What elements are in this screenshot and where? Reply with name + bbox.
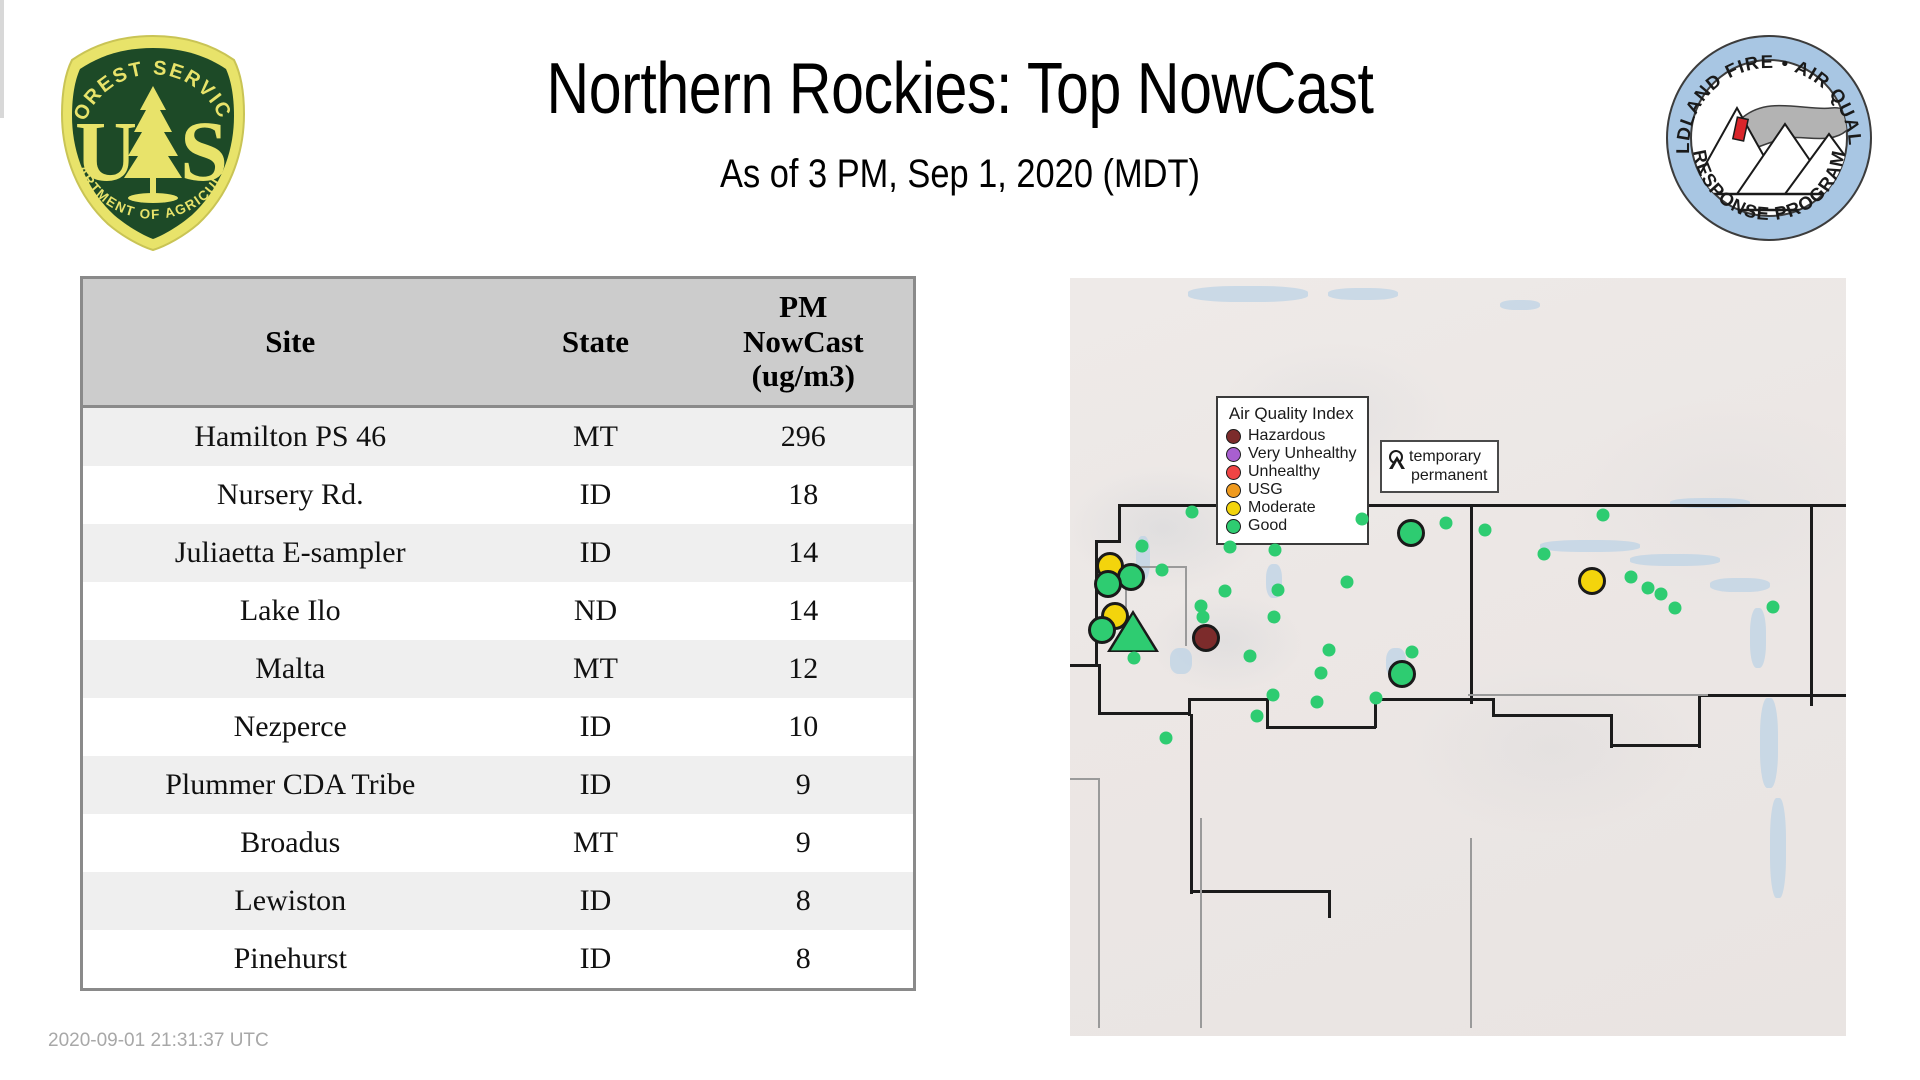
pm-header-line-1: PM <box>698 290 910 325</box>
svg-text:U: U <box>75 103 137 199</box>
wfaqrp-response-program-logo: WILDLAND FIRE • AIR QUALITY RESPONSE PRO… <box>1663 32 1875 244</box>
table-row: Nursery Rd.ID18 <box>82 466 915 524</box>
site-cell: Malta <box>82 640 498 698</box>
map-marker-good[interactable] <box>1269 544 1282 557</box>
table-header-row: Site State PM NowCast (ug/m3) <box>82 278 915 407</box>
map-marker-good[interactable] <box>1251 710 1264 723</box>
site-cell: Hamilton PS 46 <box>82 407 498 467</box>
table-row: LewistonID8 <box>82 872 915 930</box>
state-cell: ID <box>498 930 694 990</box>
legend-row-permanent: permanent <box>1389 466 1488 485</box>
map-marker-good[interactable] <box>1479 524 1492 537</box>
pm-value-cell: 9 <box>694 814 915 872</box>
state-cell: MT <box>498 814 694 872</box>
usfs-forest-service-logo: FOREST SERVICE DEPARTMENT OF AGRICULTURE… <box>48 28 258 253</box>
pm-header-line-2: NowCast <box>698 325 910 360</box>
legend-label-permanent: permanent <box>1411 467 1488 485</box>
map-marker-good[interactable] <box>1128 652 1141 665</box>
state-cell: ND <box>498 582 694 640</box>
air-quality-map[interactable]: Air Quality Index HazardousVery Unhealth… <box>1070 278 1846 1036</box>
nowcast-table-container: Site State PM NowCast (ug/m3) Hamilton P… <box>80 276 913 991</box>
nowcast-table: Site State PM NowCast (ug/m3) Hamilton P… <box>80 276 916 991</box>
site-cell: Nursery Rd. <box>82 466 498 524</box>
aqi-legend-items: HazardousVery UnhealthyUnhealthyUSGModer… <box>1226 427 1357 535</box>
aqi-legend-label: Unhealthy <box>1248 464 1320 480</box>
map-marker-good[interactable] <box>1341 576 1354 589</box>
map-marker-good[interactable] <box>1356 513 1369 526</box>
table-row: Lake IloND14 <box>82 582 915 640</box>
page-title: Northern Rockies: Top NowCast <box>419 52 1501 128</box>
pm-value-cell: 9 <box>694 756 915 814</box>
map-marker-layer <box>1070 278 1846 1036</box>
site-cell: Plummer CDA Tribe <box>82 756 498 814</box>
map-marker-hazardous[interactable] <box>1192 624 1220 652</box>
pm-value-cell: 8 <box>694 930 915 990</box>
column-header-site: Site <box>82 278 498 407</box>
map-marker-good[interactable] <box>1268 611 1281 624</box>
pm-value-cell: 12 <box>694 640 915 698</box>
svg-text:S: S <box>180 103 228 199</box>
pm-value-cell: 8 <box>694 872 915 930</box>
column-header-state: State <box>498 278 694 407</box>
map-marker-good[interactable] <box>1625 571 1638 584</box>
pm-value-cell: 18 <box>694 466 915 524</box>
aqi-swatch-icon <box>1226 447 1241 462</box>
map-marker-good[interactable] <box>1219 585 1232 598</box>
map-marker-good[interactable] <box>1597 509 1610 522</box>
table-row: BroadusMT9 <box>82 814 915 872</box>
table-body: Hamilton PS 46MT296Nursery Rd.ID18Juliae… <box>82 407 915 990</box>
column-header-pm-nowcast: PM NowCast (ug/m3) <box>694 278 915 407</box>
map-marker-good[interactable] <box>1315 667 1328 680</box>
pm-value-cell: 296 <box>694 407 915 467</box>
legend-label-temporary: temporary <box>1409 448 1481 466</box>
aqi-legend-row: Good <box>1226 517 1357 535</box>
site-cell: Lewiston <box>82 872 498 930</box>
map-marker-good[interactable] <box>1311 696 1324 709</box>
map-marker-good[interactable] <box>1406 646 1419 659</box>
map-marker-moderate[interactable] <box>1578 567 1606 595</box>
aqi-legend-label: Hazardous <box>1248 428 1325 444</box>
state-cell: ID <box>498 524 694 582</box>
aqi-legend-row: Moderate <box>1226 499 1357 517</box>
map-marker-good[interactable] <box>1397 519 1425 547</box>
table-row: Plummer CDA TribeID9 <box>82 756 915 814</box>
site-cell: Nezperce <box>82 698 498 756</box>
aqi-legend-row: Unhealthy <box>1226 463 1357 481</box>
map-marker-good[interactable] <box>1440 517 1453 530</box>
pm-value-cell: 10 <box>694 698 915 756</box>
aqi-swatch-icon <box>1226 465 1241 480</box>
pm-header-line-3: (ug/m3) <box>698 359 910 394</box>
pm-value-cell: 14 <box>694 582 915 640</box>
aqi-swatch-icon <box>1226 519 1241 534</box>
map-marker-good[interactable] <box>1156 564 1169 577</box>
map-marker-good[interactable] <box>1094 570 1122 598</box>
map-marker-good[interactable] <box>1370 692 1383 705</box>
map-marker-good[interactable] <box>1244 650 1257 663</box>
table-row: NezperceID10 <box>82 698 915 756</box>
site-cell: Broadus <box>82 814 498 872</box>
aqi-swatch-icon <box>1226 483 1241 498</box>
aqi-legend: Air Quality Index HazardousVery Unhealth… <box>1216 396 1369 545</box>
site-cell: Pinehurst <box>82 930 498 990</box>
table-row: MaltaMT12 <box>82 640 915 698</box>
state-cell: MT <box>498 640 694 698</box>
map-marker-good[interactable] <box>1767 601 1780 614</box>
map-marker-good[interactable] <box>1088 616 1116 644</box>
map-marker-good[interactable] <box>1669 602 1682 615</box>
aqi-legend-row: USG <box>1226 481 1357 499</box>
state-cell: ID <box>498 872 694 930</box>
map-marker-good[interactable] <box>1323 644 1336 657</box>
page-subtitle-timestamp: As of 3 PM, Sep 1, 2020 (MDT) <box>392 152 1527 197</box>
aqi-legend-row: Hazardous <box>1226 427 1357 445</box>
map-marker-good[interactable] <box>1655 588 1668 601</box>
site-cell: Lake Ilo <box>82 582 498 640</box>
table-row: Hamilton PS 46MT296 <box>82 407 915 467</box>
aqi-legend-label: Very Unhealthy <box>1248 446 1357 462</box>
map-marker-good[interactable] <box>1186 506 1199 519</box>
site-cell: Juliaetta E-sampler <box>82 524 498 582</box>
state-cell: ID <box>498 466 694 524</box>
footer-generation-timestamp: 2020-09-01 21:31:37 UTC <box>48 1030 269 1052</box>
map-marker-good[interactable] <box>1224 541 1237 554</box>
aqi-legend-row: Very Unhealthy <box>1226 445 1357 463</box>
map-marker-good[interactable] <box>1538 548 1551 561</box>
table-row: PinehurstID8 <box>82 930 915 990</box>
table-row: Juliaetta E-samplerID14 <box>82 524 915 582</box>
aqi-swatch-icon <box>1226 429 1241 444</box>
map-marker-good[interactable] <box>1160 732 1173 745</box>
state-cell: ID <box>498 756 694 814</box>
map-marker-good[interactable] <box>1388 660 1416 688</box>
state-cell: ID <box>498 698 694 756</box>
monitor-type-legend: temporary permanent <box>1380 440 1499 493</box>
map-marker-good[interactable] <box>1136 540 1149 553</box>
state-cell: MT <box>498 407 694 467</box>
map-marker-good[interactable] <box>1197 611 1210 624</box>
aqi-swatch-icon <box>1226 501 1241 516</box>
page-header: FOREST SERVICE DEPARTMENT OF AGRICULTURE… <box>0 0 1920 270</box>
pm-value-cell: 14 <box>694 524 915 582</box>
map-marker-good[interactable] <box>1272 584 1285 597</box>
aqi-legend-label: Moderate <box>1248 500 1316 516</box>
aqi-legend-title: Air Quality Index <box>1226 405 1357 422</box>
aqi-legend-label: Good <box>1248 518 1287 534</box>
title-block: Northern Rockies: Top NowCast As of 3 PM… <box>300 52 1620 197</box>
permanent-monitor-icon <box>1389 469 1405 482</box>
map-marker-good[interactable] <box>1267 689 1280 702</box>
map-marker-good[interactable] <box>1642 582 1655 595</box>
aqi-legend-label: USG <box>1248 482 1283 498</box>
